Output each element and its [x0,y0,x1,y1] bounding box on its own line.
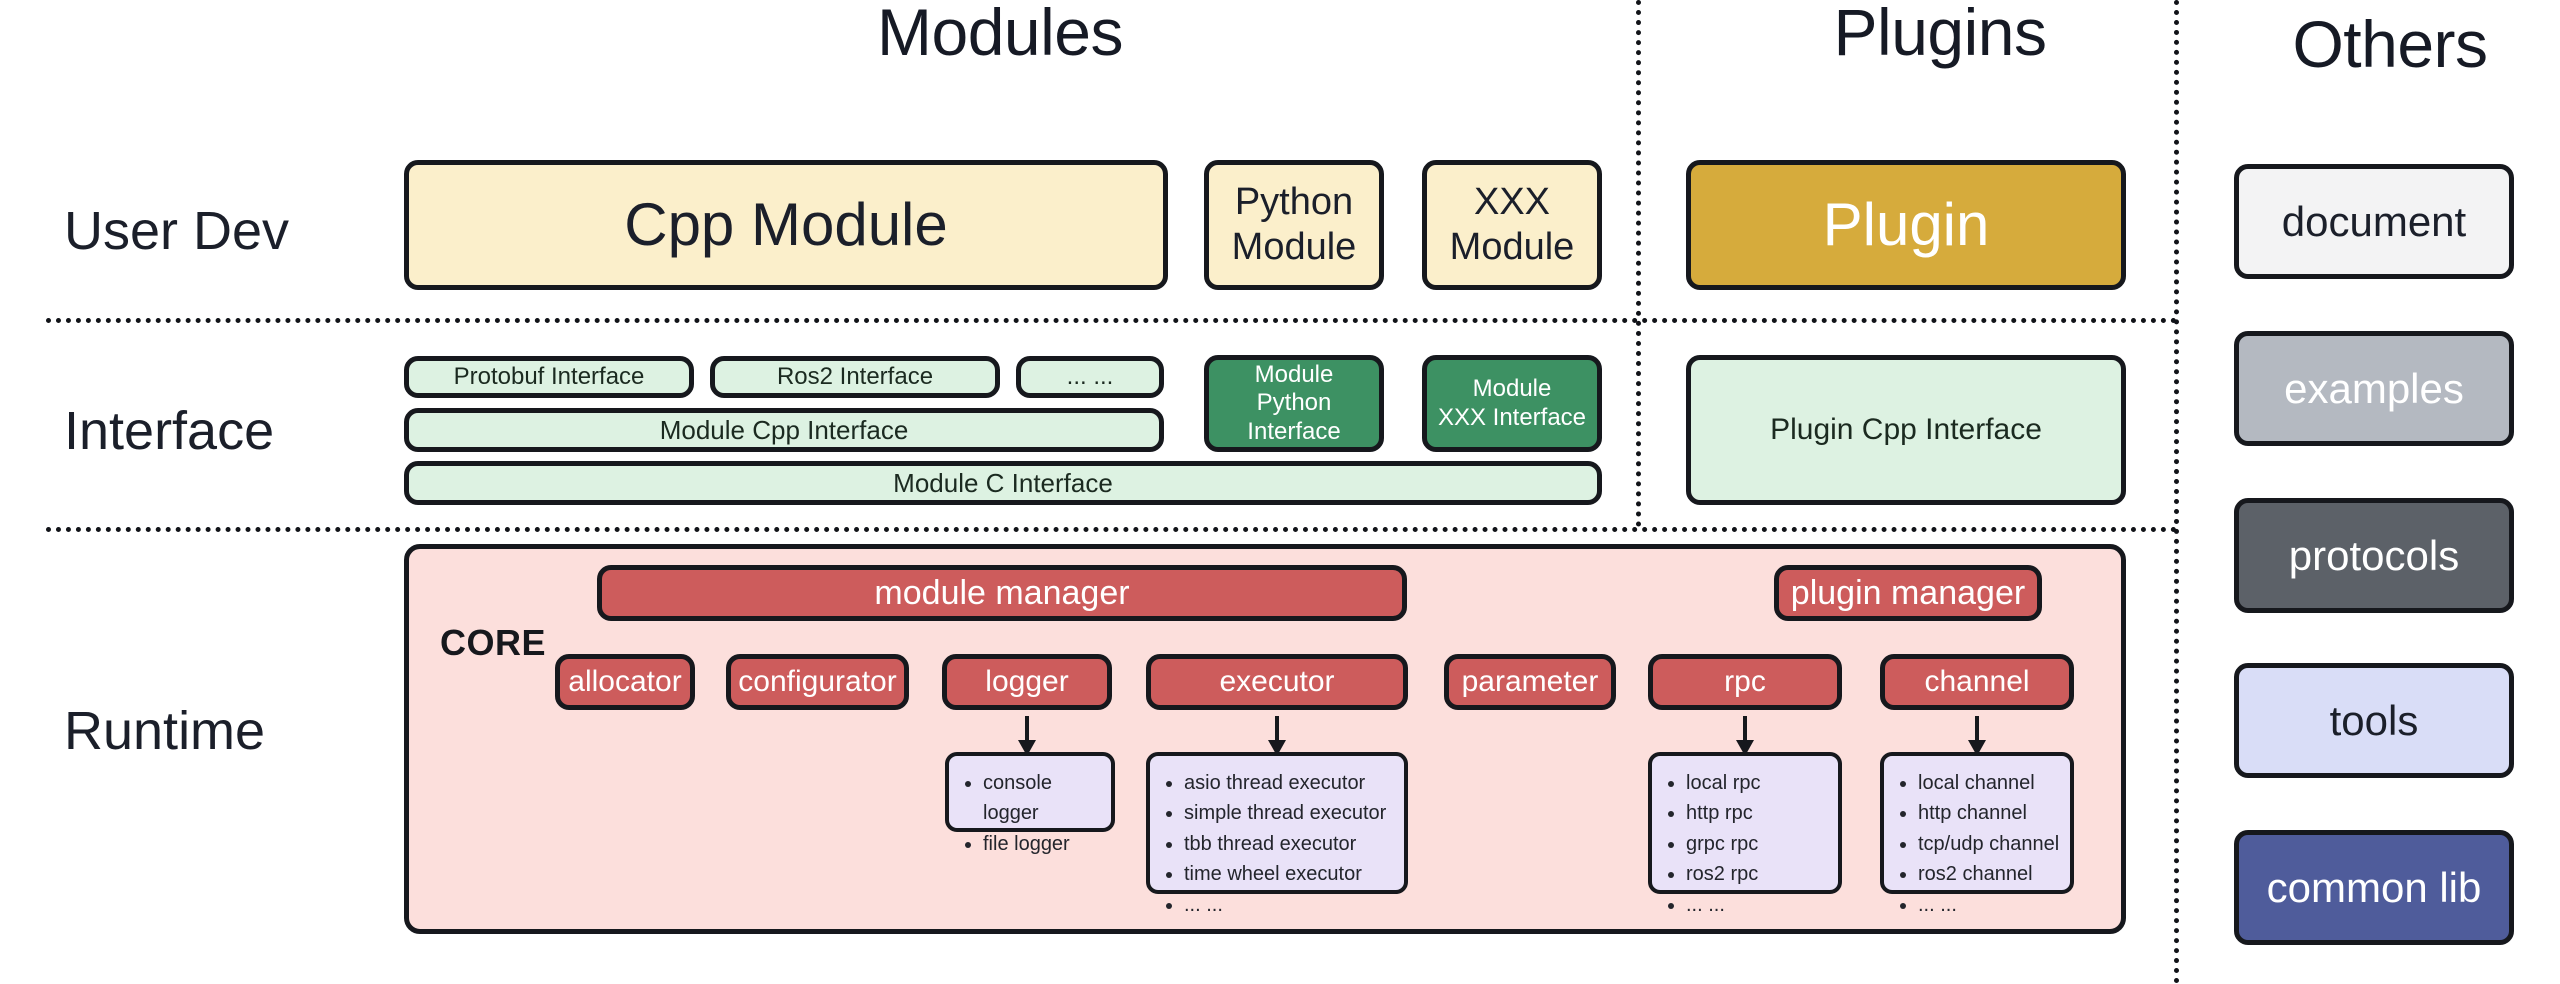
divider-plugins-others [2174,0,2179,984]
list-item: ros2 rpc [1686,859,1828,889]
python-module-box[interactable]: Python Module [1204,160,1384,290]
module-manager-box[interactable]: module manager [597,565,1407,621]
component-rpc[interactable]: rpc [1648,654,1842,710]
plugin-manager-box[interactable]: plugin manager [1774,565,2042,621]
logger-items: console logger file logger [949,756,1111,869]
others-item-examples[interactable]: examples [2234,331,2514,446]
row-label-user-dev: User Dev [64,200,289,262]
xxx-module-box[interactable]: XXX Module [1422,160,1602,290]
plugin-box[interactable]: Plugin [1686,160,2126,290]
divider-interface-runtime [46,527,2178,532]
core-label: CORE [440,622,546,664]
rpc-items: local rpc http rpc grpc rpc ros2 rpc ...… [1652,756,1838,930]
list-item: ... ... [1184,890,1394,920]
column-title-plugins: Plugins [1640,0,2240,70]
column-title-modules: Modules [760,0,1240,70]
list-item: ros2 channel [1918,859,2060,889]
list-item: tbb thread executor [1184,829,1394,859]
logger-detail-list[interactable]: console logger file logger [945,752,1115,832]
divider-userdev-interface [46,318,2178,323]
list-item: file logger [983,829,1101,859]
list-item: ... ... [1918,890,2060,920]
component-logger[interactable]: logger [942,654,1112,710]
list-item: simple thread executor [1184,798,1394,828]
others-item-common-lib[interactable]: common lib [2234,830,2514,945]
component-configurator[interactable]: configurator [726,654,909,710]
cpp-module-box[interactable]: Cpp Module [404,160,1168,290]
row-label-interface: Interface [64,400,274,462]
list-item: local rpc [1686,768,1828,798]
list-item: grpc rpc [1686,829,1828,859]
rpc-detail-list[interactable]: local rpc http rpc grpc rpc ros2 rpc ...… [1648,752,1842,894]
component-allocator[interactable]: allocator [555,654,695,710]
list-item: asio thread executor [1184,768,1394,798]
component-channel[interactable]: channel [1880,654,2074,710]
module-xxx-interface-box[interactable]: Module XXX Interface [1422,355,1602,452]
list-item: time wheel executor [1184,859,1394,889]
executor-detail-list[interactable]: asio thread executor simple thread execu… [1146,752,1408,894]
list-item: ... ... [1686,890,1828,920]
list-item: local channel [1918,768,2060,798]
others-item-tools[interactable]: tools [2234,663,2514,778]
list-item: http channel [1918,798,2060,828]
others-item-document[interactable]: document [2234,164,2514,279]
ros2-interface-box[interactable]: Ros2 Interface [710,356,1000,398]
component-executor[interactable]: executor [1146,654,1408,710]
architecture-diagram: Modules Plugins Others User Dev Interfac… [0,0,2560,984]
list-item: console logger [983,768,1101,829]
channel-items: local channel http channel tcp/udp chann… [1884,756,2070,930]
plugin-cpp-interface-box[interactable]: Plugin Cpp Interface [1686,355,2126,505]
column-title-others: Others [2230,6,2550,82]
protobuf-interface-box[interactable]: Protobuf Interface [404,356,694,398]
other-interface-box[interactable]: ... ... [1016,356,1164,398]
others-item-protocols[interactable]: protocols [2234,498,2514,613]
list-item: tcp/udp channel [1918,829,2060,859]
component-parameter[interactable]: parameter [1444,654,1616,710]
channel-detail-list[interactable]: local channel http channel tcp/udp chann… [1880,752,2074,894]
list-item: http rpc [1686,798,1828,828]
module-python-interface-box[interactable]: Module Python Interface [1204,355,1384,452]
divider-modules-plugins [1636,0,1641,527]
module-c-interface-box[interactable]: Module C Interface [404,461,1602,505]
executor-items: asio thread executor simple thread execu… [1150,756,1404,930]
module-cpp-interface-box[interactable]: Module Cpp Interface [404,408,1164,452]
row-label-runtime: Runtime [64,700,265,762]
